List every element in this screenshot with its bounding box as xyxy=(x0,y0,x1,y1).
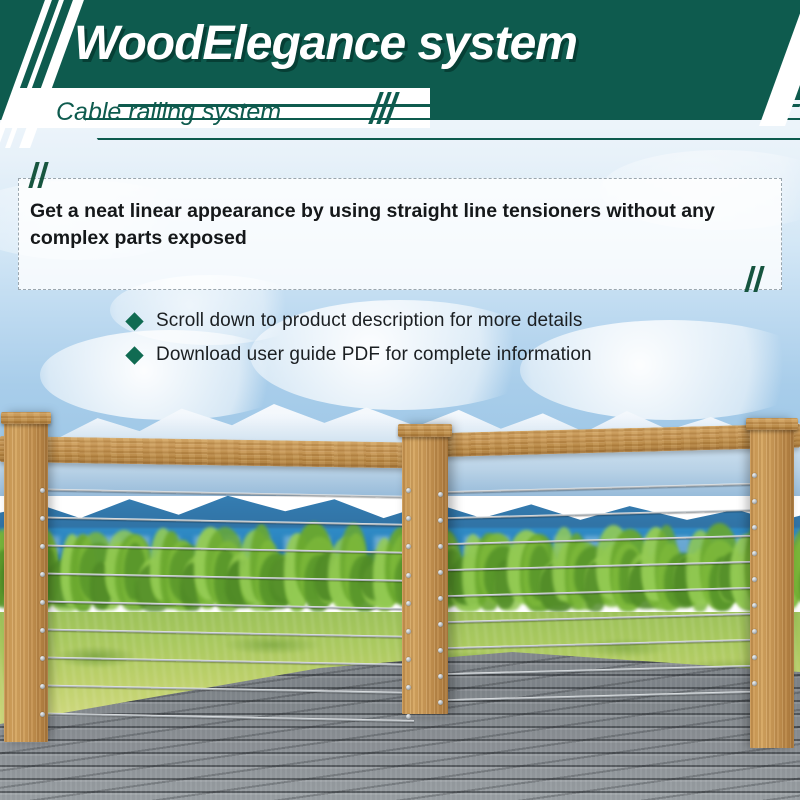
list-item[interactable]: Download user guide PDF for complete inf… xyxy=(128,344,592,366)
cable-wire xyxy=(418,638,786,650)
cable-wire xyxy=(418,534,786,546)
quote-section: Get a neat linear appearance by using st… xyxy=(18,178,782,290)
cable-fitting-icon xyxy=(752,473,757,478)
cable-fitting-icon xyxy=(40,544,45,549)
cable-fitting-icon xyxy=(406,516,411,521)
railing-post-corner xyxy=(402,424,448,714)
cable-wire xyxy=(418,508,786,520)
cable-fitting-icon xyxy=(40,712,45,717)
cable-wire xyxy=(14,600,414,610)
list-item-label: Download user guide PDF for complete inf… xyxy=(156,344,592,366)
railing-post xyxy=(750,418,794,748)
cable-fitting-icon xyxy=(40,572,45,577)
cable-fitting-icon xyxy=(406,488,411,493)
cable-wire xyxy=(418,690,786,702)
list-item[interactable]: Scroll down to product description for m… xyxy=(128,310,592,332)
cable-fitting-icon xyxy=(40,488,45,493)
cable-wire xyxy=(14,544,414,554)
cable-wire xyxy=(418,560,786,572)
quote-text: Get a neat linear appearance by using st… xyxy=(30,198,772,252)
cable-fitting-icon xyxy=(752,655,757,660)
post-cap xyxy=(1,412,51,424)
cable-fitting-icon xyxy=(438,596,443,601)
quote-mark-icon xyxy=(32,162,54,188)
cable-wire xyxy=(14,488,414,498)
post-cap xyxy=(746,418,798,430)
cable-fitting-icon xyxy=(438,674,443,679)
cable-wire xyxy=(14,712,414,722)
cable-wire xyxy=(14,656,414,666)
cable-fitting-icon xyxy=(40,516,45,521)
quote-mark-icon xyxy=(748,266,770,292)
header-banner: WoodElegance system Cable railing system xyxy=(0,0,800,148)
cable-fitting-icon xyxy=(752,681,757,686)
post-cap xyxy=(398,424,452,437)
cable-fitting-icon xyxy=(438,492,443,497)
cable-wire xyxy=(418,586,786,598)
cable-fitting-icon xyxy=(40,628,45,633)
cable-fitting-icon xyxy=(438,570,443,575)
cable-fitting-icon xyxy=(752,551,757,556)
cable-wire xyxy=(418,612,786,624)
cable-wire xyxy=(14,516,414,526)
cable-fitting-icon xyxy=(406,601,411,606)
list-item-label: Scroll down to product description for m… xyxy=(156,310,582,332)
cable-wire xyxy=(14,684,414,694)
diamond-bullet-icon xyxy=(125,346,143,364)
cable-fitting-icon xyxy=(406,573,411,578)
product-banner-page: WoodElegance system Cable railing system… xyxy=(0,0,800,800)
cable-wire xyxy=(14,628,414,638)
cable-wire xyxy=(418,664,786,676)
cable-fitting-icon xyxy=(406,629,411,634)
page-title: WoodElegance system xyxy=(74,16,577,71)
cable-wire xyxy=(418,482,786,494)
cable-fitting-icon xyxy=(752,577,757,582)
cable-fitting-icon xyxy=(438,544,443,549)
cable-fitting-icon xyxy=(752,629,757,634)
cable-fitting-icon xyxy=(438,518,443,523)
cable-fitting-icon xyxy=(406,714,411,719)
cable-wire xyxy=(14,572,414,582)
diamond-bullet-icon xyxy=(125,312,143,330)
cable-fitting-icon xyxy=(752,603,757,608)
cable-fitting-icon xyxy=(40,600,45,605)
railing-post xyxy=(4,412,48,742)
cable-fitting-icon xyxy=(752,499,757,504)
top-rail-left xyxy=(0,436,416,469)
cable-fitting-icon xyxy=(752,525,757,530)
cable-fitting-icon xyxy=(406,685,411,690)
cable-fitting-icon xyxy=(40,684,45,689)
cable-fitting-icon xyxy=(406,657,411,662)
top-rail-right xyxy=(404,424,800,458)
cable-fitting-icon xyxy=(438,648,443,653)
cable-fitting-icon xyxy=(438,700,443,705)
bullet-list: Scroll down to product description for m… xyxy=(128,310,592,378)
cable-fitting-icon xyxy=(40,656,45,661)
cable-fitting-icon xyxy=(438,622,443,627)
page-subtitle: Cable railing system xyxy=(56,98,281,127)
cable-fitting-icon xyxy=(406,544,411,549)
